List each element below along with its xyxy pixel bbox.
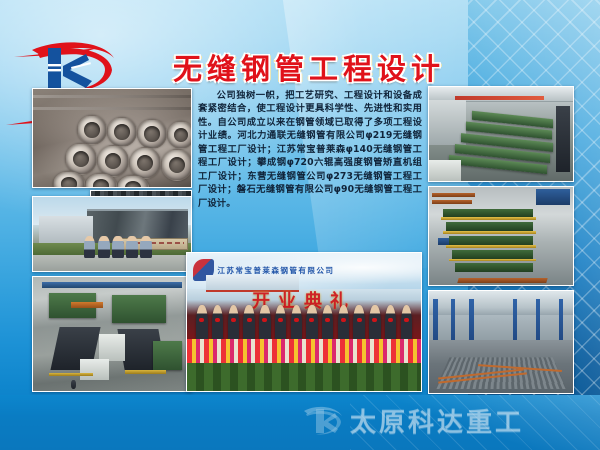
photo-production-line-2 [428,186,574,286]
photo-steel-pipes [32,88,192,188]
body-paragraph: 公司独树一帜，把工艺研究、工程设计和设备成套紧密结合，使工程设计更具科学性、先进… [198,89,422,210]
photo-production-line-1 [32,276,192,392]
bottom-band [0,395,600,450]
photo-group-factory [32,196,192,272]
photo-ceremony: 江苏常宝普莱森钢管有限公司 开业典礼 [186,252,422,392]
page-title: 无缝钢管工程设计 [134,46,484,88]
photo-green-machinery [428,86,574,182]
photo-steel-hall [428,290,574,394]
body-text-panel: 公司独树一帜，把工艺研究、工程设计和设备成套紧密结合，使工程设计更具科学性、先进… [196,88,424,210]
kd-logo [26,36,118,96]
poster-page: 无缝钢管工程设计 公司独树一帜，把工艺研究、工程设计和设备成套紧密结合，使工程设… [0,0,600,450]
